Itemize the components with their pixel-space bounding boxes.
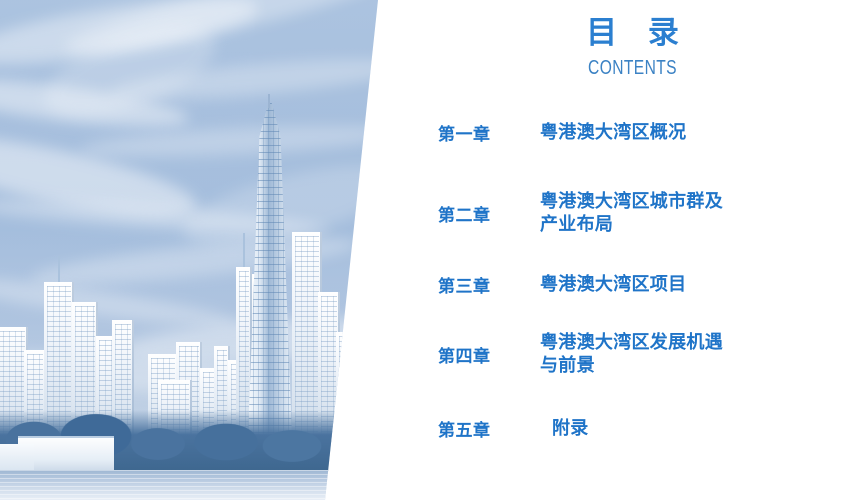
antenna-icon xyxy=(243,233,245,267)
building xyxy=(376,346,400,442)
table-of-contents: 第一章 粤港澳大湾区概况 第二章 粤港澳大湾区城市群及 产业布局 第三章 粤港澳… xyxy=(400,0,865,500)
building xyxy=(358,364,382,442)
city-skyline xyxy=(0,240,400,500)
toc-chapter-title: 粤港澳大湾区城市群及 产业布局 xyxy=(540,190,723,237)
cloud-streak-icon xyxy=(0,0,262,77)
toc-chapter-label: 第三章 xyxy=(400,272,540,297)
toc-chapter-label: 第一章 xyxy=(400,120,540,145)
toc-item-chapter-1[interactable]: 第一章 粤港澳大湾区概况 xyxy=(400,120,865,145)
cloud-streak-icon xyxy=(60,0,400,68)
presentation-slide: 目 录 CONTENTS 第一章 粤港澳大湾区概况 第二章 粤港澳大湾区城市群及… xyxy=(0,0,865,500)
toc-chapter-title: 附录 xyxy=(540,417,589,440)
cloud-streak-icon xyxy=(80,120,400,163)
cloud-streak-icon xyxy=(33,7,226,134)
toc-item-chapter-4[interactable]: 第四章 粤港澳大湾区发展机遇 与前景 xyxy=(400,331,865,378)
waterfront-building xyxy=(0,444,34,470)
toc-chapter-label: 第五章 xyxy=(400,416,540,441)
main-tower-building xyxy=(248,103,292,438)
toc-chapter-title: 粤港澳大湾区概况 xyxy=(540,121,686,144)
toc-chapter-title: 粤港澳大湾区项目 xyxy=(540,273,686,296)
photo-sky-background xyxy=(0,0,400,500)
cloud-streak-icon xyxy=(109,51,400,107)
toc-chapter-label: 第四章 xyxy=(400,342,540,367)
toc-item-chapter-3[interactable]: 第三章 粤港澳大湾区项目 xyxy=(400,272,865,297)
contents-panel: 目 录 CONTENTS 第一章 粤港澳大湾区概况 第二章 粤港澳大湾区城市群及… xyxy=(400,0,865,500)
cloud-streak-icon xyxy=(0,70,191,135)
toc-chapter-title: 粤港澳大湾区发展机遇 与前景 xyxy=(540,331,723,378)
waterfront-water xyxy=(0,470,400,500)
toc-item-chapter-2[interactable]: 第二章 粤港澳大湾区城市群及 产业布局 xyxy=(400,190,865,237)
toc-chapter-label: 第二章 xyxy=(400,201,540,226)
cover-photo xyxy=(0,0,400,500)
tower-spire-icon xyxy=(268,94,270,108)
building xyxy=(336,332,362,442)
cloud-streak-icon xyxy=(0,120,202,231)
toc-item-chapter-5[interactable]: 第五章 附录 xyxy=(400,416,865,441)
antenna-icon xyxy=(58,256,60,282)
